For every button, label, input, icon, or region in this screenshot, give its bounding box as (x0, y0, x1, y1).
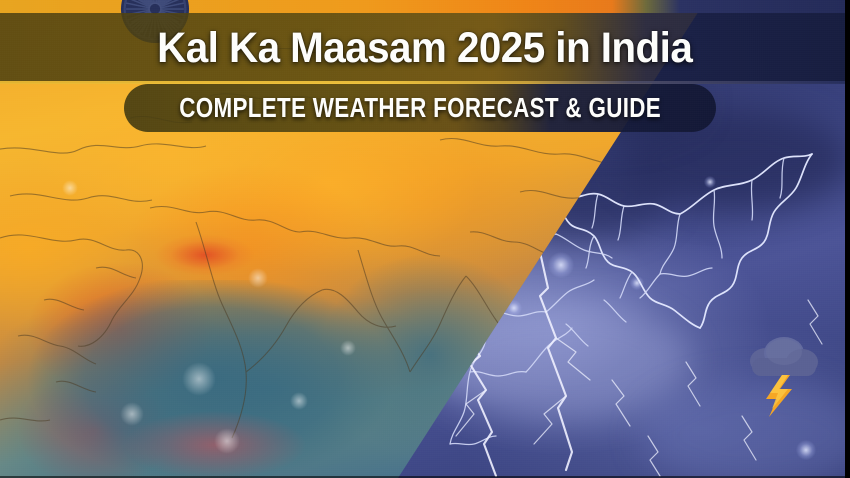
title-band: Kal Ka Maasam 2025 in India (0, 13, 850, 83)
thunderstorm-icon (736, 325, 828, 417)
lightning-bolt-icon (766, 375, 792, 417)
cloud-icon (750, 337, 818, 376)
weather-poster: Kal Ka Maasam 2025 in India COMPLETE WEA… (0, 0, 850, 478)
right-edge-border (845, 0, 850, 478)
subtitle-pill: COMPLETE WEATHER FORECAST & GUIDE (124, 84, 716, 132)
page-title: Kal Ka Maasam 2025 in India (157, 24, 692, 73)
page-subtitle: COMPLETE WEATHER FORECAST & GUIDE (179, 92, 661, 124)
